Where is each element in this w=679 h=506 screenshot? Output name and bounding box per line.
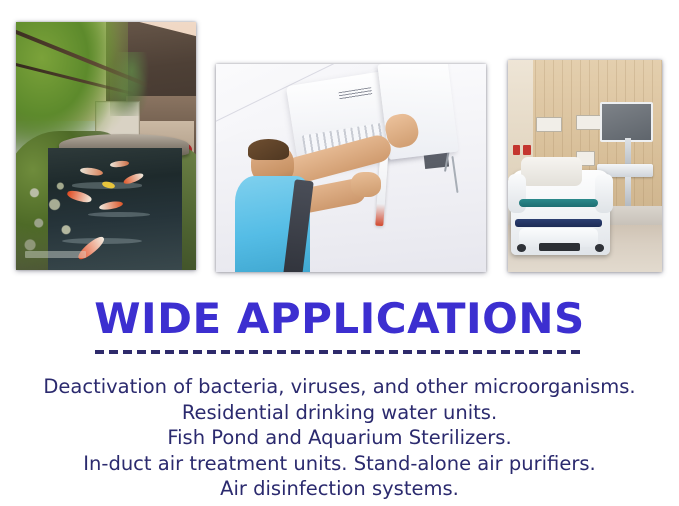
- bed-caster-wheel: [595, 244, 604, 252]
- application-line: In-duct air treatment units. Stand-alone…: [0, 451, 679, 477]
- bed-pillow: [521, 157, 582, 186]
- applications-list: Deactivation of bacteria, viruses, and o…: [0, 374, 679, 502]
- wall-monitor: [600, 102, 653, 142]
- technician-hand-lower: [351, 172, 381, 197]
- technician-hair: [248, 139, 289, 160]
- infographic-page: WIDE APPLICATIONS Deactivation of bacter…: [0, 0, 679, 506]
- hospital-bed: [511, 170, 610, 255]
- dashed-divider: [95, 350, 585, 354]
- photo-watermark: [25, 251, 86, 258]
- koi-fish: [99, 200, 124, 211]
- application-line: Air disinfection systems.: [0, 476, 679, 502]
- stone-edging: [20, 176, 92, 260]
- ac-brand-mark: [338, 88, 372, 101]
- wall-outlet-panel: [536, 117, 563, 132]
- bed-under-tray: [539, 243, 580, 251]
- bed-side-rail-right: [595, 174, 613, 213]
- monitor-column: [625, 177, 631, 207]
- emergency-outlet: [523, 145, 531, 156]
- water-ripple: [88, 212, 149, 217]
- monitor-arm: [625, 138, 631, 166]
- photo-hospital-room: [508, 60, 662, 272]
- photo-koi-pond: [16, 22, 196, 270]
- bed-teal-accent: [519, 199, 598, 207]
- koi-fish: [109, 160, 128, 168]
- bed-navy-accent: [515, 219, 602, 227]
- hospital-scene: [508, 60, 662, 272]
- bed-side-rail-left: [508, 174, 526, 213]
- hvac-scene: [216, 64, 486, 272]
- koi-pond-scene: [16, 22, 196, 270]
- page-title: WIDE APPLICATIONS: [0, 296, 679, 342]
- application-line: Fish Pond and Aquarium Sterilizers.: [0, 425, 679, 451]
- emergency-outlet: [513, 145, 521, 156]
- application-line: Deactivation of bacteria, viruses, and o…: [0, 374, 679, 400]
- application-line: Residential drinking water units.: [0, 400, 679, 426]
- bed-caster-wheel: [517, 244, 526, 252]
- photo-hvac-installation: [216, 64, 486, 272]
